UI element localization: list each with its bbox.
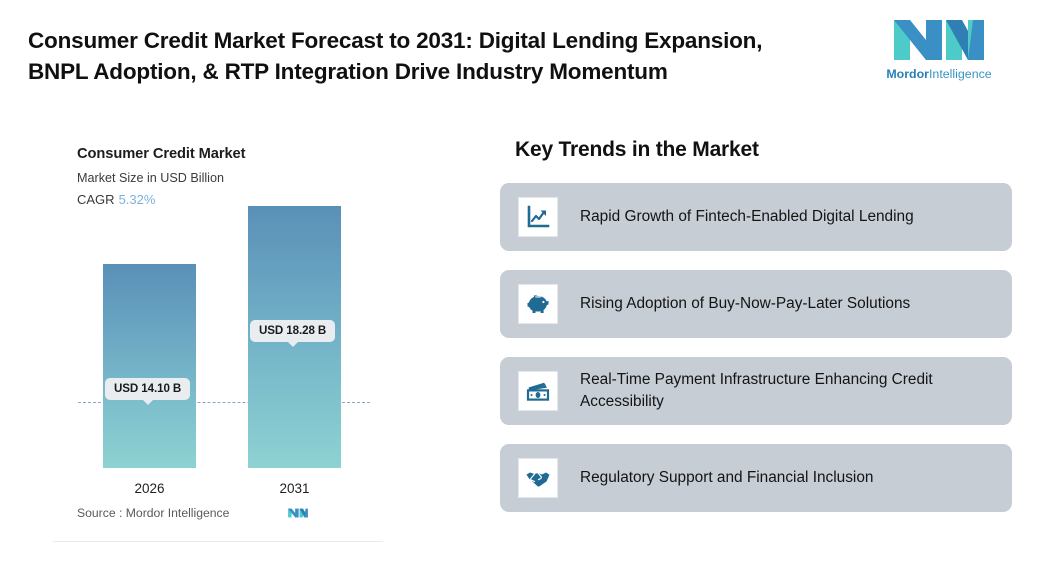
source-logo-icon bbox=[285, 505, 311, 521]
logo-wordmark-intelligence: Intelligence bbox=[929, 67, 992, 81]
cagr-row: CAGR5.32% bbox=[77, 192, 155, 207]
chart-subtitle: Market Size in USD Billion bbox=[77, 171, 224, 185]
trend-label-rtp: Real-Time Payment Infrastructure Enhanci… bbox=[580, 369, 1000, 413]
trend-label-bnpl: Rising Adoption of Buy-Now-Pay-Later Sol… bbox=[580, 293, 910, 315]
line-chart-growth-icon bbox=[518, 197, 558, 237]
mordor-intelligence-logo: MordorIntelligence bbox=[880, 14, 998, 90]
trend-card-digital-lending[interactable]: Rapid Growth of Fintech-Enabled Digital … bbox=[500, 183, 1012, 251]
header: Consumer Credit Market Forecast to 2031:… bbox=[0, 0, 1041, 112]
page-title-line2: BNPL Adoption, & RTP Integration Drive I… bbox=[28, 56, 868, 87]
bar-value-label-2026: USD 14.10 B bbox=[105, 378, 190, 400]
market-size-chart-card: Consumer Credit Market Market Size in US… bbox=[53, 133, 383, 542]
trend-label-digital-lending: Rapid Growth of Fintech-Enabled Digital … bbox=[580, 206, 914, 228]
x-axis-tick-2026: 2026 bbox=[103, 481, 196, 496]
chart-source-text: Source : Mordor Intelligence bbox=[77, 506, 229, 520]
chart-source-row: Source : Mordor Intelligence bbox=[77, 505, 363, 521]
mordor-logo-mark-icon bbox=[880, 14, 998, 66]
bar-value-label-2031: USD 18.28 B bbox=[250, 320, 335, 342]
trend-card-regulatory[interactable]: Regulatory Support and Financial Inclusi… bbox=[500, 444, 1012, 512]
cagr-value: 5.32% bbox=[119, 192, 156, 207]
bar-2026 bbox=[103, 264, 196, 468]
trend-label-regulatory: Regulatory Support and Financial Inclusi… bbox=[580, 467, 873, 489]
trend-card-bnpl[interactable]: Rising Adoption of Buy-Now-Pay-Later Sol… bbox=[500, 270, 1012, 338]
trends-title: Key Trends in the Market bbox=[515, 138, 1012, 162]
piggy-bank-icon bbox=[518, 284, 558, 324]
page-title-line1: Consumer Credit Market Forecast to 2031:… bbox=[28, 28, 762, 53]
chart-plot-area: USD 14.10 B USD 18.28 B 2026 2031 bbox=[53, 228, 383, 508]
logo-wordmark-mordor: Mordor bbox=[886, 67, 929, 81]
trend-card-rtp[interactable]: Real-Time Payment Infrastructure Enhanci… bbox=[500, 357, 1012, 425]
infographic-page: Consumer Credit Market Forecast to 2031:… bbox=[0, 0, 1041, 574]
logo-wordmark: MordorIntelligence bbox=[880, 67, 998, 81]
chart-title: Consumer Credit Market bbox=[77, 146, 245, 162]
cagr-label: CAGR bbox=[77, 192, 115, 207]
cash-banknote-icon bbox=[518, 371, 558, 411]
x-axis-tick-2031: 2031 bbox=[248, 481, 341, 496]
key-trends-panel: Key Trends in the Market Rapid Growth of… bbox=[500, 138, 1012, 531]
page-title: Consumer Credit Market Forecast to 2031:… bbox=[28, 25, 868, 87]
handshake-icon bbox=[518, 458, 558, 498]
